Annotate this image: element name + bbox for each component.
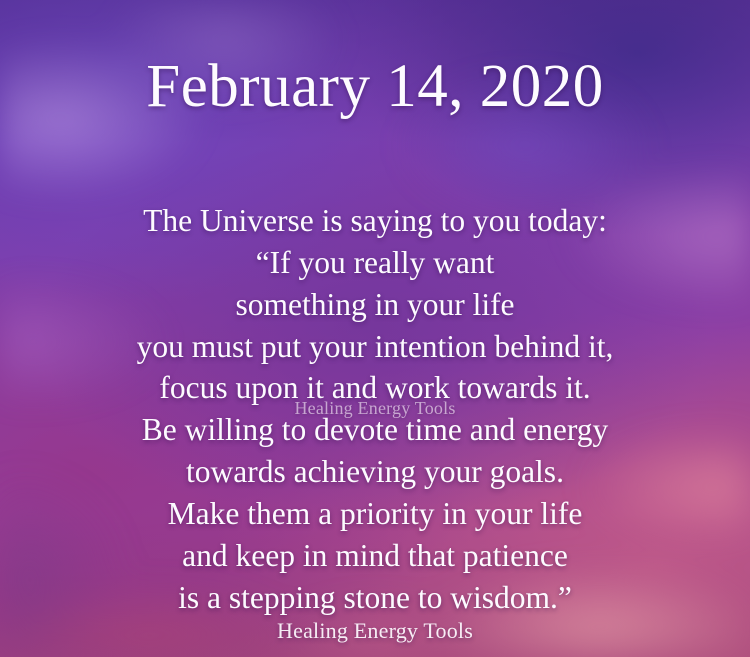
quote-line: towards achieving your goals. [21,451,729,493]
quote-line: and keep in mind that patience [21,535,729,577]
quote-line: The Universe is saying to you today: [21,200,729,242]
quote-line: Make them a priority in your life [21,493,729,535]
quote-line: “If you really want [21,242,729,284]
date-heading: February 14, 2020 [146,56,603,117]
watermark-bottom: Healing Energy Tools [277,618,473,644]
quote-image: February 14, 2020 The Universe is saying… [0,0,750,657]
watermark-center: Healing Energy Tools [294,398,455,419]
quote-line: you must put your intention behind it, [21,326,729,368]
quote-line: is a stepping stone to wisdom.” [21,577,729,619]
quote-line: something in your life [21,284,729,326]
content-container: February 14, 2020 The Universe is saying… [0,0,750,657]
